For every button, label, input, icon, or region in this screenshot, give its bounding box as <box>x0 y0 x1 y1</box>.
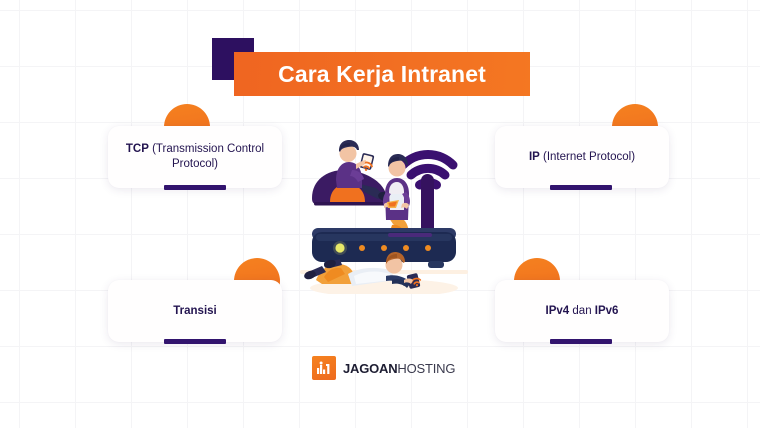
card-label-transisi: Transisi <box>160 304 229 319</box>
logo-brand-light: HOSTING <box>397 361 455 376</box>
card-label-ipv4-ipv6: IPv4 dan IPv6 <box>533 304 632 319</box>
card-label-ip-bold: IP <box>529 151 540 163</box>
card-ip[interactable]: IP (Internet Protocol) <box>492 104 688 190</box>
card-label-ip-regular: (Internet Protocol) <box>540 151 635 163</box>
card-body-ip[interactable]: IP (Internet Protocol) <box>495 126 669 188</box>
card-underline-bar <box>164 339 226 344</box>
card-underline-bar <box>550 339 612 344</box>
card-label-tcp-regular: (Transmission Control Protocol) <box>149 143 264 170</box>
title-block: Cara Kerja Intranet <box>212 38 530 96</box>
card-tcp[interactable]: TCP (Transmission Control Protocol) <box>108 104 304 190</box>
card-label-ip: IP (Internet Protocol) <box>516 150 648 165</box>
card-underline-bar <box>550 185 612 190</box>
card-transisi[interactable]: Transisi <box>108 258 304 344</box>
card-label-tcp-bold: TCP <box>126 143 149 155</box>
card-ipv4-ipv6[interactable]: IPv4 dan IPv6 <box>492 258 688 344</box>
card-label-ipv6: IPv6 <box>595 305 619 317</box>
card-body-tcp[interactable]: TCP (Transmission Control Protocol) <box>108 126 282 188</box>
infographic-canvas: Cara Kerja Intranet TCP (Transmission Co… <box>0 0 760 428</box>
card-label-transisi-bold: Transisi <box>173 305 216 317</box>
logo-text: JAGOANHOSTING <box>343 361 455 376</box>
wifi-router-people-illustration <box>300 122 468 294</box>
person-on-beanbag <box>312 140 393 206</box>
logo-brand-bold: JAGOAN <box>343 361 397 376</box>
title-banner: Cara Kerja Intranet <box>234 52 530 96</box>
card-body-transisi[interactable]: Transisi <box>108 280 282 342</box>
logo-mark-icon <box>312 356 336 380</box>
card-label-tcp: TCP (Transmission Control Protocol) <box>108 142 282 172</box>
page-title: Cara Kerja Intranet <box>278 61 486 88</box>
jagoanhosting-logo[interactable]: JAGOANHOSTING <box>312 356 455 380</box>
card-underline-bar <box>164 185 226 190</box>
card-label-dan: dan <box>569 305 595 317</box>
card-body-ipv4-ipv6[interactable]: IPv4 dan IPv6 <box>495 280 669 342</box>
card-label-ipv4: IPv4 <box>546 305 570 317</box>
